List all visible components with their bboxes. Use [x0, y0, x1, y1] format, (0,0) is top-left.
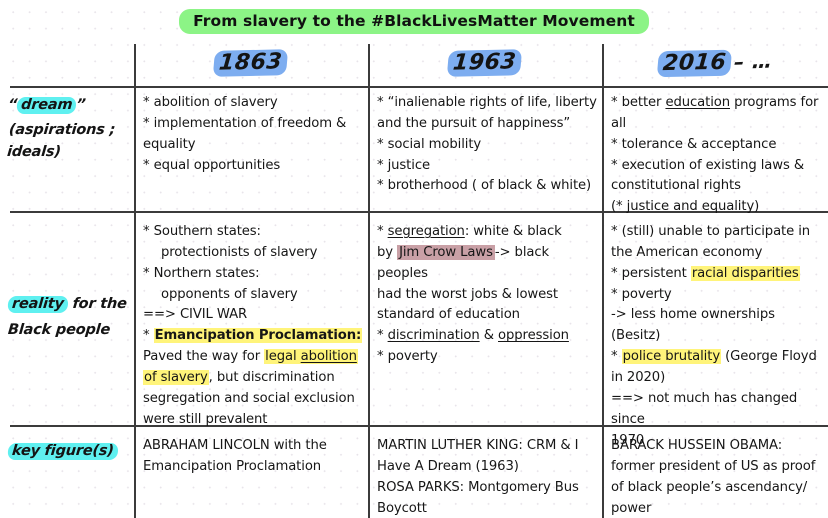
cell-line: * execution of existing laws & — [611, 156, 825, 177]
column-divider-2 — [368, 44, 370, 518]
term-discrimination: discrimination — [388, 328, 480, 343]
cell-line: Boycott — [377, 499, 601, 518]
cell-line: * equal opportunities — [143, 156, 361, 177]
cell-line: * abolition of slavery — [143, 93, 361, 114]
cell-line: protectionists of slavery — [143, 243, 365, 264]
row-label-dream: “dream” (aspirations ; ideals) — [8, 94, 134, 163]
cell-line: MARTIN LUTHER KING: CRM & I — [377, 436, 601, 457]
cell-dream-1863: * abolition of slavery * implementation … — [143, 93, 361, 176]
cell-line: and the pursuit of happiness” — [377, 114, 599, 135]
term-of-slavery: of slavery — [143, 370, 209, 385]
cell-dream-1963: * “inalienable rights of life, liberty a… — [377, 93, 599, 197]
cell-line: of black people’s ascendancy/ — [611, 478, 827, 499]
row-divider-header — [10, 86, 828, 88]
column-header-1863: 1863 — [134, 44, 368, 80]
cell-reality-1863: * Southern states: protectionists of sla… — [143, 222, 365, 431]
term-oppression: oppression — [498, 328, 569, 343]
term-jim-crow-laws: Jim Crow Laws — [397, 245, 495, 260]
row-label-reality-line1: reality for the — [7, 293, 128, 315]
term-racial-disparities: racial disparities — [691, 266, 800, 281]
year-label-1863: 1863 — [213, 49, 288, 76]
cell-line: * discrimination & oppression — [377, 326, 601, 347]
cell-line: had the worst jobs & lowest — [377, 285, 601, 306]
cell-line: * poverty — [377, 347, 601, 368]
cell-line: * (still) unable to participate in — [611, 222, 827, 243]
column-header-1963: 1963 — [368, 44, 602, 80]
cell-line: * justice — [377, 156, 599, 177]
cell-line: (* justice and equality) — [611, 197, 825, 218]
term-police-brutality: police brutality — [622, 349, 721, 364]
cell-line: Emancipation Proclamation — [143, 457, 363, 478]
cell-keyfig-1963: MARTIN LUTHER KING: CRM & I Have A Dream… — [377, 436, 601, 518]
cell-line: * poverty — [611, 285, 827, 306]
cell-line: * social mobility — [377, 135, 599, 156]
row-label-key-figures: key figure(s) — [8, 440, 134, 462]
cell-line: * better education programs for — [611, 93, 825, 114]
cell-line: ==> CIVIL WAR — [143, 305, 365, 326]
cell-line: were still prevalent — [143, 410, 365, 431]
cell-line: -> less home ownerships (Besitz) — [611, 305, 827, 347]
cell-line: * police brutality (George Floyd — [611, 347, 827, 368]
cell-line: * “inalienable rights of life, liberty — [377, 93, 599, 114]
cell-line: standard of education — [377, 305, 601, 326]
cell-line: former president of US as proof — [611, 457, 827, 478]
year-label-2016: 2016– … — [656, 48, 773, 75]
term-education: education — [665, 95, 730, 110]
cell-line: equality — [143, 135, 361, 156]
term-segregation: segregation — [388, 224, 465, 239]
cell-keyfig-2016: BARACK HUSSEIN OBAMA: former president o… — [611, 436, 827, 518]
cell-line: of slavery, but discrimination — [143, 368, 365, 389]
cell-line: ==> not much has changed since — [611, 389, 827, 431]
year-value-2016: 2016 — [656, 49, 732, 77]
cell-line: * Southern states: — [143, 222, 365, 243]
page-title-text: From slavery to the #BlackLivesMatter Mo… — [179, 9, 649, 34]
cell-line: Paved the way for legal abolition — [143, 347, 365, 368]
cell-line: opponents of slavery — [143, 285, 365, 306]
row-label-key-figures-text: key figure(s) — [7, 440, 119, 462]
cell-line: in 2020) — [611, 368, 827, 389]
row-label-reality-line2: Black people — [7, 319, 111, 341]
column-divider-3 — [602, 44, 604, 518]
cell-line: ROSA PARKS: Montgomery Bus — [377, 478, 601, 499]
term-emancipation-proclamation: Emancipation Proclamation: — [154, 328, 363, 343]
cell-line: Have A Dream (1963) — [377, 457, 601, 478]
year-label-1963: 1963 — [447, 49, 522, 76]
cell-line: * brotherhood ( of black & white) — [377, 176, 599, 197]
cell-reality-1963: * segregation: white & black by Jim Crow… — [377, 222, 601, 368]
row-label-dream-sub: (aspirations ; ideals) — [6, 119, 136, 163]
cell-line: ABRAHAM LINCOLN with the — [143, 436, 363, 457]
cell-line: * implementation of freedom & — [143, 114, 361, 135]
year-value-1863: 1863 — [213, 49, 289, 77]
term-legal-abolition: legal abolition — [264, 349, 358, 364]
cell-line: the American economy — [611, 243, 827, 264]
cell-dream-2016: * better education programs for all * to… — [611, 93, 825, 218]
cell-line: by Jim Crow Laws-> black peoples — [377, 243, 601, 285]
year-value-1963: 1963 — [447, 49, 523, 77]
cell-line: all — [611, 114, 825, 135]
cell-line: * tolerance & acceptance — [611, 135, 825, 156]
cell-line: BARACK HUSSEIN OBAMA: — [611, 436, 827, 457]
page-title: From slavery to the #BlackLivesMatter Mo… — [0, 0, 828, 42]
cell-line: constitutional rights — [611, 176, 825, 197]
notes-sheet: From slavery to the #BlackLivesMatter Mo… — [0, 0, 828, 518]
column-divider-1 — [134, 44, 136, 518]
cell-line: * persistent racial disparities — [611, 264, 827, 285]
cell-line: * segregation: white & black — [377, 222, 601, 243]
year-suffix-2016: – … — [733, 48, 773, 73]
cell-keyfig-1863: ABRAHAM LINCOLN with the Emancipation Pr… — [143, 436, 363, 478]
row-label-reality: reality for the Black people — [8, 293, 134, 341]
cell-line: segregation and social exclusion — [143, 389, 365, 410]
cell-line: * Emancipation Proclamation: — [143, 326, 365, 347]
cell-line: * Northern states: — [143, 264, 365, 285]
row-label-dream-quote: “dream” — [7, 94, 86, 116]
cell-reality-2016: * (still) unable to participate in the A… — [611, 222, 827, 451]
cell-line: power — [611, 499, 827, 518]
column-header-2016: 2016– … — [602, 44, 828, 80]
